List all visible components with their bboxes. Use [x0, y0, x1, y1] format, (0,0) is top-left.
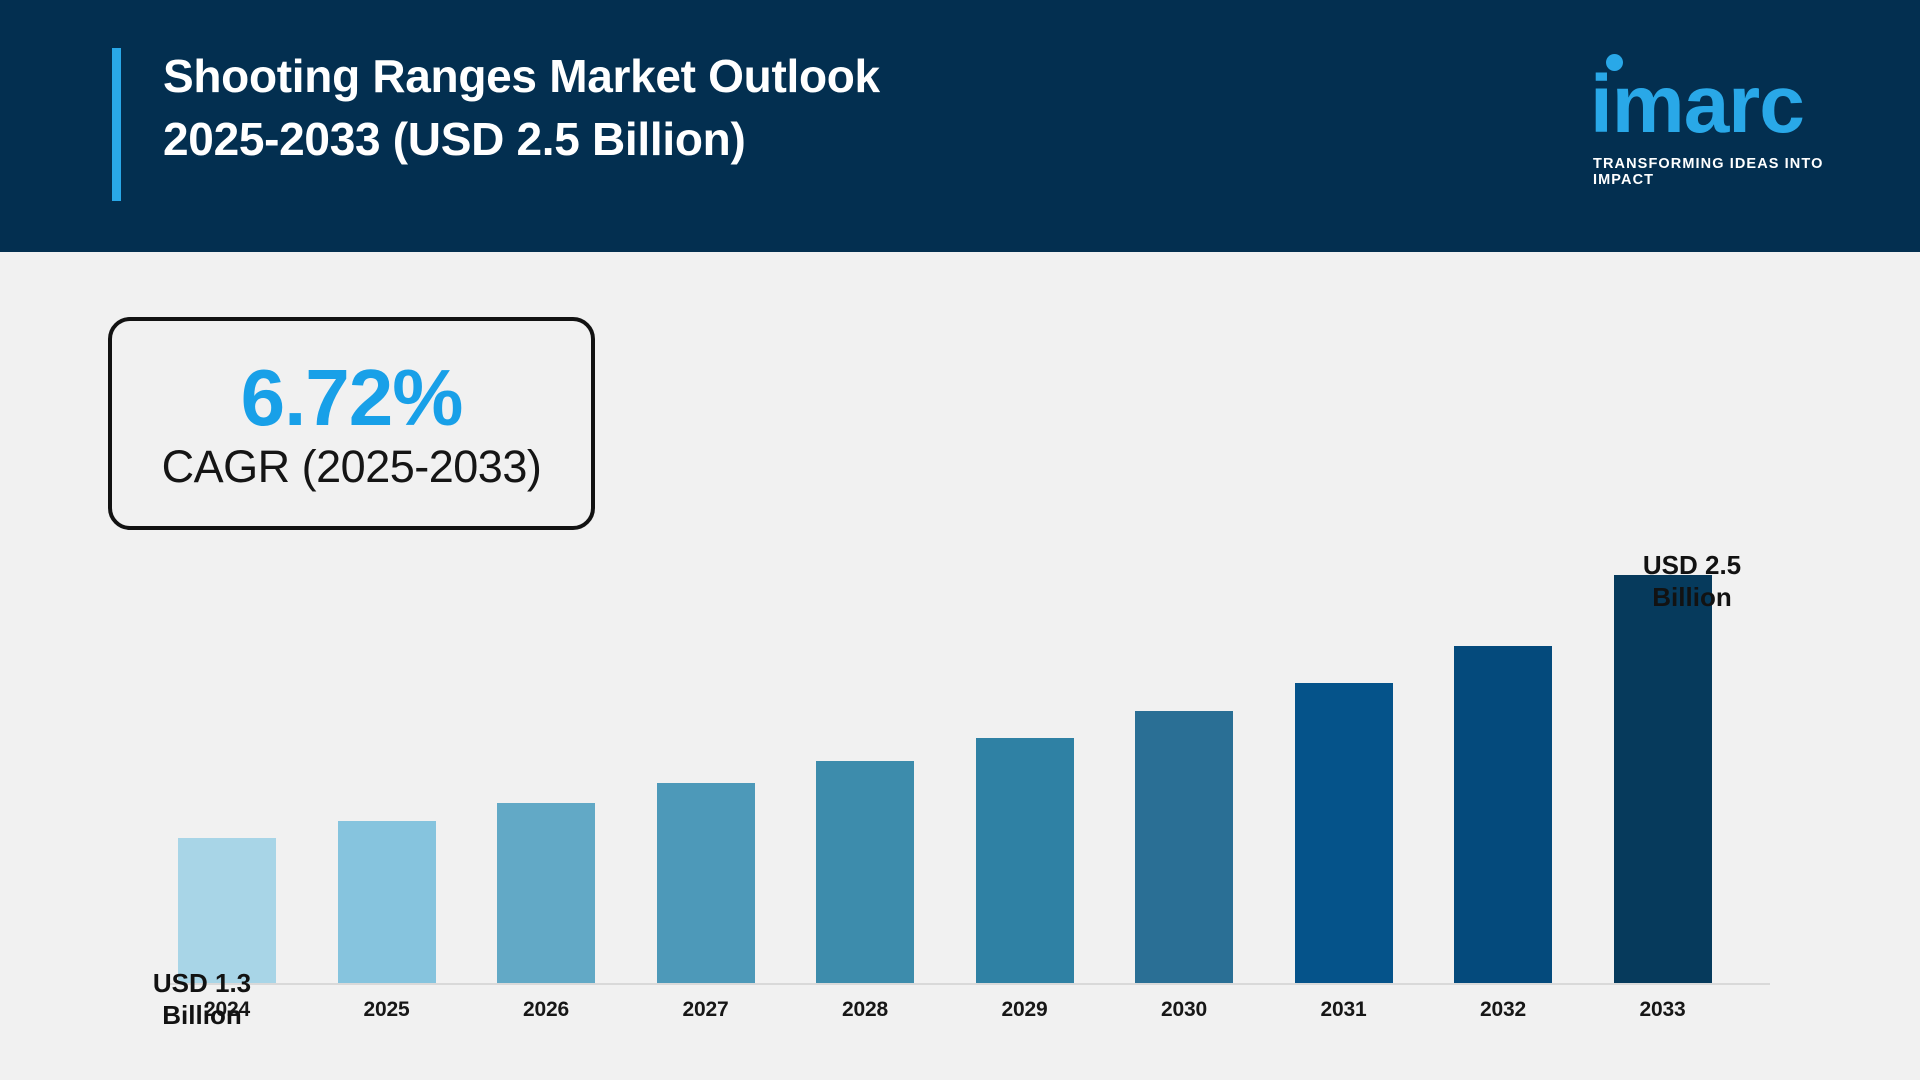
- bar-2027: [657, 783, 755, 983]
- value-callout-first: USD 1.3 Billion: [116, 968, 288, 1031]
- x-axis-label-2032: 2032: [1429, 998, 1577, 1022]
- infographic-canvas: Shooting Ranges Market Outlook 2025-2033…: [0, 0, 1920, 1080]
- x-axis-label-2026: 2026: [472, 998, 620, 1022]
- bar-2029: [976, 738, 1074, 983]
- logo-wordmark: imarc: [1590, 64, 1804, 146]
- bar-2031: [1295, 683, 1393, 983]
- header-accent-bar: [112, 48, 121, 201]
- x-axis-label-2030: 2030: [1110, 998, 1258, 1022]
- bar-2030: [1135, 711, 1233, 983]
- chart-baseline: [168, 983, 1770, 985]
- bar-2024: [178, 838, 276, 983]
- imarc-logo: imarc TRANSFORMING IDEAS INTO IMPACT: [1590, 52, 1858, 170]
- bar-2033: [1614, 575, 1712, 983]
- x-axis-label-2027: 2027: [632, 998, 780, 1022]
- bar-2025: [338, 821, 436, 983]
- x-axis-label-2028: 2028: [791, 998, 939, 1022]
- bar-2032: [1454, 646, 1552, 983]
- logo-tagline: TRANSFORMING IDEAS INTO IMPACT: [1593, 156, 1858, 188]
- header-banner: Shooting Ranges Market Outlook 2025-2033…: [0, 0, 1920, 252]
- bar-2028: [816, 761, 914, 983]
- x-axis-label-2033: 2033: [1589, 998, 1737, 1022]
- x-axis-label-2025: 2025: [313, 998, 461, 1022]
- value-callout-last: USD 2.5 Billion: [1597, 550, 1787, 613]
- page-title: Shooting Ranges Market Outlook 2025-2033…: [163, 45, 1463, 172]
- x-axis-label-2029: 2029: [951, 998, 1099, 1022]
- bar-chart: 2024202520262027202820292030203120322033…: [0, 252, 1920, 1080]
- x-axis-label-2031: 2031: [1270, 998, 1418, 1022]
- bar-2026: [497, 803, 595, 983]
